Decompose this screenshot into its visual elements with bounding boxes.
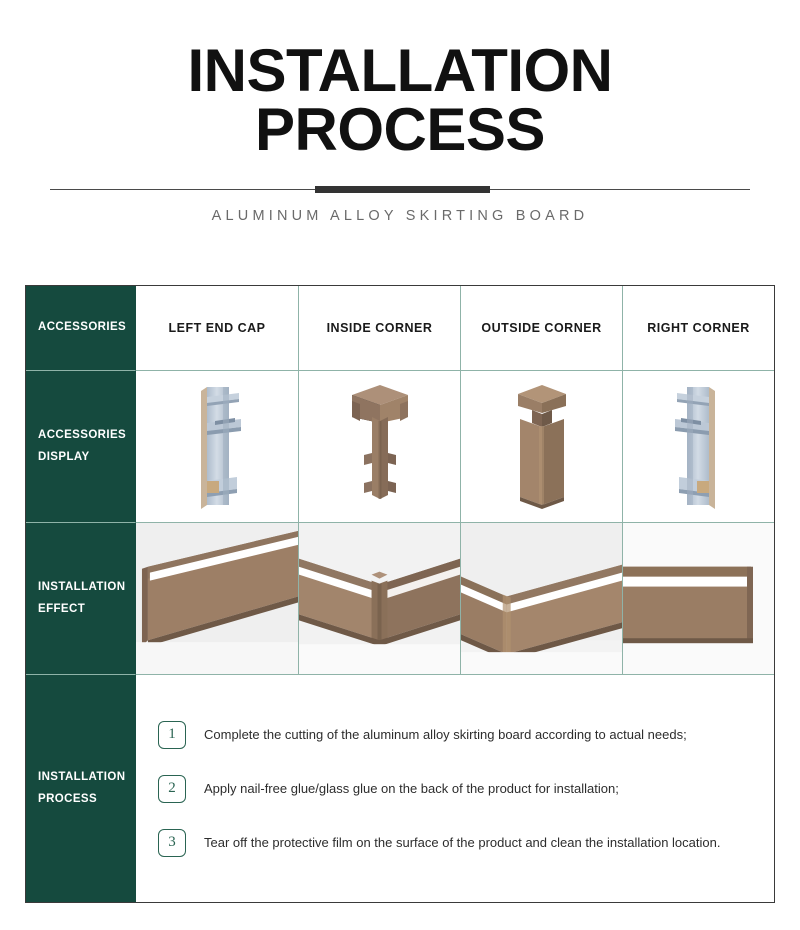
column-header-right-corner: RIGHT CORNER [623,286,774,371]
step-item: 1 Complete the cutting of the aluminum a… [158,721,748,749]
row-label-accessories: ACCESSORIES [26,286,136,371]
row-label-installation-process: INSTALLATION PROCESS [26,675,136,902]
flat-board-effect-icon [623,523,774,674]
installation-steps-list: 1 Complete the cutting of the aluminum a… [136,675,774,902]
page-subtitle: ALUMINUM ALLOY SKIRTING BOARD [0,208,800,224]
effect-cell-right-corner [623,523,774,675]
row-label-accessories-display: ACCESSORIES DISPLAY [26,371,136,523]
page-header: INSTALLATION PROCESS ALUMINUM ALLOY SKIR… [0,0,800,224]
column-header-text: INSIDE CORNER [327,319,433,337]
outside-corner-part-icon [482,377,602,517]
column-header-text: RIGHT CORNER [647,319,750,337]
step-number-badge: 3 [158,829,186,857]
inside-corner-effect-icon [299,523,460,674]
column-header-text: OUTSIDE CORNER [481,319,601,337]
step-item: 3 Tear off the protective film on the su… [158,829,748,857]
column-header-inside-corner: INSIDE CORNER [299,286,461,371]
column-header-outside-corner: OUTSIDE CORNER [461,286,623,371]
installation-table: ACCESSORIES LEFT END CAP INSIDE CORNER O… [25,285,775,903]
title-divider [50,186,750,194]
row-label-accessories-display-text: ACCESSORIES DISPLAY [38,425,135,468]
column-header-text: LEFT END CAP [169,319,266,337]
accessory-cell-outside-corner [461,371,623,523]
page-title: INSTALLATION PROCESS [80,42,720,160]
effect-cell-outside-corner [461,523,623,675]
accessory-cell-left-end-cap [136,371,299,523]
step-item: 2 Apply nail-free glue/glass glue on the… [158,775,748,803]
row-label-installation-process-text: INSTALLATION PROCESS [38,767,135,810]
accessory-cell-inside-corner [299,371,461,523]
row-label-accessories-text: ACCESSORIES [38,317,126,338]
step-number-badge: 1 [158,721,186,749]
effect-cell-left-end-cap [136,523,299,675]
step-text: Tear off the protective film on the surf… [204,834,720,852]
row-label-installation-effect: INSTALLATION EFFECT [26,523,136,675]
step-number-badge: 2 [158,775,186,803]
left-end-cap-part-icon [157,377,277,517]
straight-board-effect-icon [136,523,298,674]
divider-accent-bar [315,186,490,193]
page-title-line1: INSTALLATION [187,37,612,104]
inside-corner-part-icon [320,377,440,517]
column-header-left-end-cap: LEFT END CAP [136,286,299,371]
step-text: Complete the cutting of the aluminum all… [204,726,687,744]
accessory-cell-right-corner [623,371,774,523]
row-label-installation-effect-text: INSTALLATION EFFECT [38,577,135,620]
right-corner-part-icon [639,377,759,517]
step-text: Apply nail-free glue/glass glue on the b… [204,780,619,798]
page-title-line2: PROCESS [80,101,720,160]
outside-corner-effect-icon [461,523,622,674]
effect-cell-inside-corner [299,523,461,675]
